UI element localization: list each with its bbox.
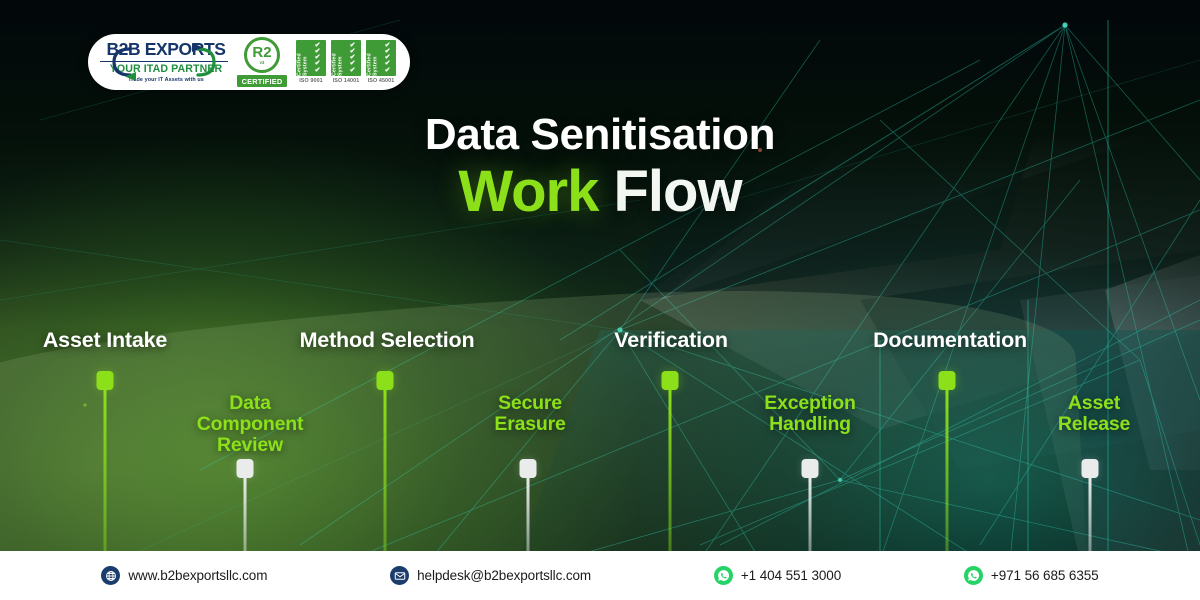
poster-canvas: B2B EXPORTS YOUR ITAD PARTNER Trade your… [0,0,1200,600]
marker-head-icon [1082,459,1099,478]
contact-phone-us-text: +1 404 551 3000 [741,568,841,583]
step-label-verification: Verification [614,328,728,353]
step-marker-green[interactable] [939,371,956,570]
step-marker-green[interactable] [377,371,394,570]
contact-phone-uae-text: +971 56 685 6355 [991,568,1099,583]
contact-phone-uae[interactable]: +971 56 685 6355 [964,566,1099,585]
envelope-icon [390,566,409,585]
step-label-documentation: Documentation [873,328,1027,353]
marker-head-icon [662,371,679,390]
marker-head-icon [939,371,956,390]
marker-head-icon [377,371,394,390]
marker-head-icon [97,371,114,390]
marker-head-icon [520,459,537,478]
whatsapp-icon [714,566,733,585]
contact-email-text: helpdesk@b2bexportsllc.com [417,568,591,583]
step-label-method-selection: Method Selection [300,328,475,353]
contact-website[interactable]: www.b2bexportsllc.com [101,566,267,585]
step-label-exception-handling: Exception Handling [764,393,855,435]
marker-stem [668,390,671,570]
contact-phone-us[interactable]: +1 404 551 3000 [714,566,841,585]
globe-icon [101,566,120,585]
step-label-asset-release: Asset Release [1058,393,1130,435]
marker-stem [945,390,948,570]
marker-stem [103,390,106,570]
footer-contact-bar: www.b2bexportsllc.com helpdesk@b2bexport… [0,551,1200,600]
step-marker-green[interactable] [662,371,679,570]
marker-head-icon [237,459,254,478]
contact-email[interactable]: helpdesk@b2bexportsllc.com [390,566,591,585]
step-label-secure-erasure: Secure Erasure [494,393,565,435]
workflow-timeline: Asset Intake Data Component Review Metho… [0,0,1200,551]
step-label-asset-intake: Asset Intake [43,328,167,353]
whatsapp-icon [964,566,983,585]
marker-stem [383,390,386,570]
step-label-data-component-review: Data Component Review [197,393,304,456]
contact-website-text: www.b2bexportsllc.com [128,568,267,583]
marker-head-icon [802,459,819,478]
step-marker-green[interactable] [97,371,114,570]
